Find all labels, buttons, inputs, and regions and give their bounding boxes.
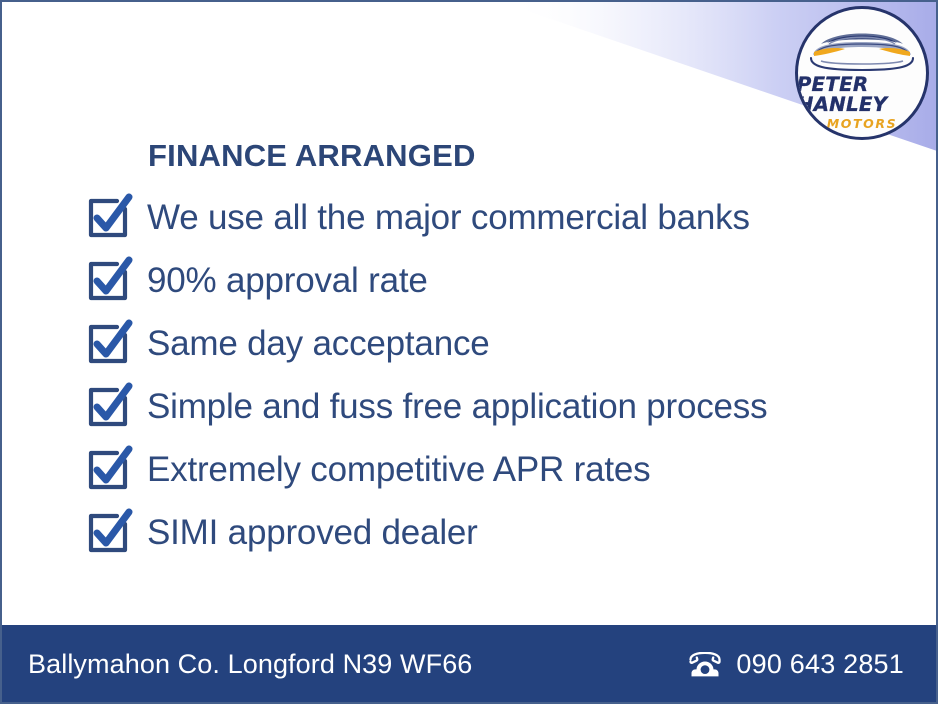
list-item-label: Same day acceptance — [147, 326, 490, 361]
list-item: We use all the major commercial banks — [84, 191, 767, 243]
checkbox-checked-icon — [84, 192, 134, 242]
list-item-label: 90% approval rate — [147, 263, 428, 298]
checkbox-checked-icon — [84, 381, 134, 431]
logo-company-subtitle: MOTORS — [827, 118, 897, 131]
finance-promo-poster: PETER HANLEY MOTORS FINANCE ARRANGED We … — [0, 0, 938, 704]
list-item: Simple and fuss free application process — [84, 380, 767, 432]
list-item: Same day acceptance — [84, 317, 767, 369]
page-title: FINANCE ARRANGED — [148, 138, 476, 174]
footer-address: Ballymahon Co. Longford N39 WF66 — [28, 649, 472, 680]
checkbox-checked-icon — [84, 255, 134, 305]
logo-company-name: PETER HANLEY — [797, 75, 928, 114]
company-logo-badge: PETER HANLEY MOTORS — [795, 6, 929, 140]
list-item-label: SIMI approved dealer — [147, 515, 478, 550]
list-item: SIMI approved dealer — [84, 506, 767, 558]
telephone-icon — [688, 652, 722, 678]
checkbox-checked-icon — [84, 318, 134, 368]
list-item: 90% approval rate — [84, 254, 767, 306]
list-item-label: Extremely competitive APR rates — [147, 452, 650, 487]
footer-contact-bar: Ballymahon Co. Longford N39 WF66 090 643… — [0, 625, 938, 704]
list-item-label: Simple and fuss free application process — [147, 389, 767, 424]
checkbox-checked-icon — [84, 444, 134, 494]
list-item: Extremely competitive APR rates — [84, 443, 767, 495]
list-item-label: We use all the major commercial banks — [147, 200, 750, 235]
checkbox-checked-icon — [84, 507, 134, 557]
feature-list: We use all the major commercial banks 90… — [84, 191, 767, 569]
car-front-icon — [805, 22, 919, 72]
footer-phone-number[interactable]: 090 643 2851 — [736, 649, 904, 680]
footer-phone-group[interactable]: 090 643 2851 — [688, 649, 904, 680]
